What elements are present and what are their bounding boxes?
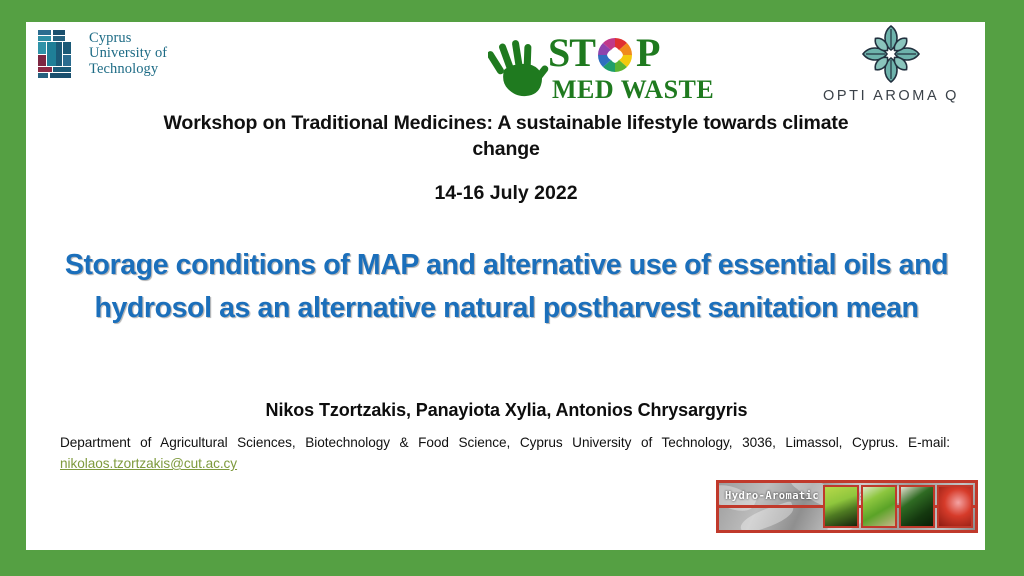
tomato-thumbnail bbox=[937, 485, 973, 528]
stop-word-prefix: ST bbox=[548, 34, 595, 72]
cyprus-university-of-technology-logo: Cyprus University of Technology bbox=[34, 28, 167, 80]
stop-word: ST bbox=[548, 34, 714, 74]
cut-line-2: University of bbox=[89, 46, 167, 62]
stop-med-waste-logo: ST bbox=[488, 30, 708, 110]
rainbow-aperture-icon bbox=[595, 36, 635, 74]
cut-emblem-svg bbox=[34, 28, 80, 80]
workshop-dates: 14-16 July 2022 bbox=[156, 182, 856, 205]
sprouts-thumbnail bbox=[823, 485, 859, 528]
leafy-plant-thumbnail bbox=[899, 485, 935, 528]
stop-med-waste-wordmark: ST bbox=[548, 34, 714, 105]
cut-wordmark: Cyprus University of Technology bbox=[89, 31, 167, 78]
leaf-rosette-icon bbox=[851, 24, 931, 86]
workshop-title: Workshop on Traditional Medicines: A sus… bbox=[156, 110, 856, 162]
green-herb-thumbnail bbox=[861, 485, 897, 528]
slide-content-area: Cyprus University of Technology bbox=[26, 22, 985, 550]
rainbow-aperture-svg bbox=[595, 36, 635, 74]
cut-line-1: Cyprus bbox=[89, 31, 167, 47]
presentation-title: Storage conditions of MAP and alternativ… bbox=[44, 244, 969, 330]
leaf-rosette-svg bbox=[851, 24, 931, 86]
banner-thumbnail-strip bbox=[823, 485, 973, 528]
author-list: Nikos Tzortzakis, Panayiota Xylia, Anton… bbox=[44, 400, 969, 421]
opti-aroma-q-wordmark: OPTI AROMA Q bbox=[796, 88, 986, 104]
contact-email-link[interactable]: nikolaos.tzortzakis@cut.ac.cy bbox=[60, 456, 237, 471]
med-waste-word: MED WASTE bbox=[552, 75, 714, 105]
opti-aroma-q-logo: OPTI AROMA Q bbox=[796, 24, 986, 110]
hydro-aromatic-plants-banner: Hydro-Aromatic Plants bbox=[716, 480, 978, 533]
affiliation-text: Department of Agricultural Sciences, Bio… bbox=[60, 435, 950, 450]
cut-emblem-icon bbox=[34, 28, 80, 80]
cut-line-3: Technology bbox=[89, 62, 167, 78]
affiliation-block: Department of Agricultural Sciences, Bio… bbox=[60, 432, 950, 474]
logo-row: Cyprus University of Technology bbox=[26, 22, 985, 114]
presentation-slide: Cyprus University of Technology bbox=[0, 0, 1024, 576]
stop-word-suffix: P bbox=[636, 34, 659, 72]
